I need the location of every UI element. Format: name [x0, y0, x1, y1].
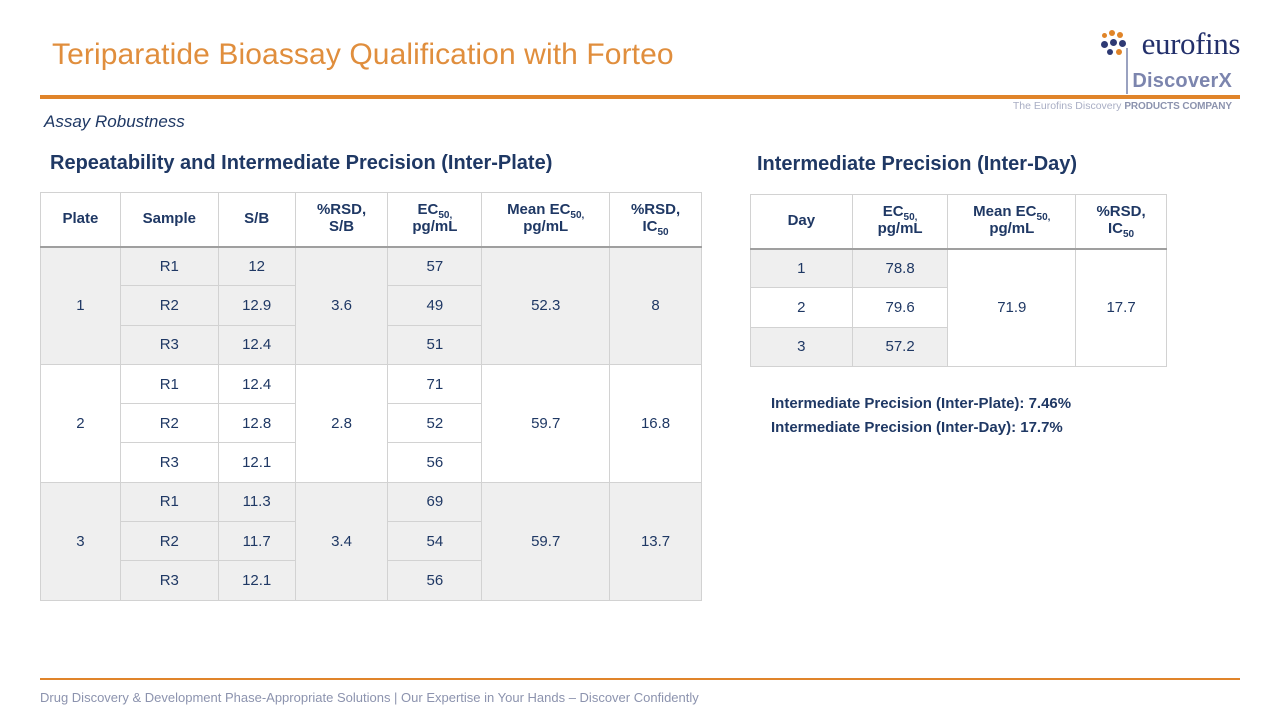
footer-divider: [40, 678, 1240, 680]
eurofins-dots-icon: [1101, 30, 1135, 58]
cell-rsd-sb: 3.4: [295, 482, 388, 600]
cell-ec50: 56: [388, 561, 482, 600]
cell-plate: 3: [41, 482, 121, 600]
cell-mean-ec50: 52.3: [482, 247, 610, 365]
cell-sb: 11.7: [218, 522, 295, 561]
cell-ec50: 78.8: [852, 249, 948, 288]
plate-table-heading: Repeatability and Intermediate Precision…: [50, 152, 552, 175]
cell-ec50: 52: [388, 404, 482, 443]
cell-ec50: 56: [388, 443, 482, 482]
col-header-plate: Plate: [41, 193, 121, 247]
col-header-day: Day: [751, 195, 853, 249]
summary-line-inter-plate: Intermediate Precision (Inter-Plate): 7.…: [771, 392, 1071, 416]
table-row: 178.871.917.7: [751, 249, 1167, 288]
table-row: 3R111.33.46959.713.7: [41, 482, 702, 521]
cell-ec50: 57: [388, 247, 482, 286]
cell-sb: 12.4: [218, 325, 295, 364]
cell-sb: 11.3: [218, 482, 295, 521]
cell-mean-ec50: 59.7: [482, 364, 610, 482]
summary-line-inter-day: Intermediate Precision (Inter-Day): 17.7…: [771, 416, 1071, 440]
cell-ec50: 69: [388, 482, 482, 521]
table-row: 2R112.42.87159.716.8: [41, 364, 702, 403]
cell-ec50: 79.6: [852, 288, 948, 327]
cell-sample: R3: [120, 325, 218, 364]
cell-plate: 1: [41, 247, 121, 365]
logo-divider: [1126, 48, 1128, 94]
cell-sb: 12.4: [218, 364, 295, 403]
col-header-rsd-ic50: %RSD,IC50: [1076, 195, 1167, 249]
tagline-light: The Eurofins Discovery: [1013, 100, 1124, 112]
header-divider: [40, 95, 1240, 99]
col-header-ec50: EC50,pg/mL: [388, 193, 482, 247]
footer-text: Drug Discovery & Development Phase-Appro…: [40, 690, 699, 705]
logo-tagline: The Eurofins Discovery PRODUCTS COMPANY: [1013, 100, 1232, 112]
col-header-ec50: EC50,pg/mL: [852, 195, 948, 249]
cell-day: 3: [751, 327, 853, 366]
tagline-bold: PRODUCTS COMPANY: [1124, 101, 1232, 112]
eurofins-logo: eurofins DiscoverX The Eurofins Discover…: [980, 22, 1240, 94]
slide-root: Teriparatide Bioassay Qualification with…: [0, 0, 1280, 720]
col-header-sb: S/B: [218, 193, 295, 247]
cell-ec50: 51: [388, 325, 482, 364]
cell-sample: R2: [120, 286, 218, 325]
cell-sample: R3: [120, 561, 218, 600]
page-title: Teriparatide Bioassay Qualification with…: [52, 38, 674, 72]
cell-sample: R3: [120, 443, 218, 482]
cell-rsd-ic50: 13.7: [610, 482, 702, 600]
cell-rsd-sb: 2.8: [295, 364, 388, 482]
cell-sb: 12.8: [218, 404, 295, 443]
cell-sample: R2: [120, 404, 218, 443]
cell-sample: R1: [120, 247, 218, 286]
eurofins-wordmark: eurofins: [1142, 28, 1240, 60]
cell-ec50: 49: [388, 286, 482, 325]
cell-rsd-ic50: 8: [610, 247, 702, 365]
col-header-mean-ec50: Mean EC50,pg/mL: [948, 195, 1076, 249]
precision-summary: Intermediate Precision (Inter-Plate): 7.…: [771, 392, 1071, 439]
col-header-mean-ec50: Mean EC50,pg/mL: [482, 193, 610, 247]
repeatability-inter-plate-table: Plate Sample S/B %RSD,S/B EC50,pg/mL Mea…: [40, 192, 702, 601]
discoverx-wordmark: DiscoverX: [1132, 70, 1232, 93]
cell-mean-ec50: 59.7: [482, 482, 610, 600]
cell-sb: 12: [218, 247, 295, 286]
table-header-row: Day EC50,pg/mL Mean EC50,pg/mL %RSD,IC50: [751, 195, 1167, 249]
cell-sb: 12.1: [218, 443, 295, 482]
cell-day: 1: [751, 249, 853, 288]
cell-sample: R2: [120, 522, 218, 561]
cell-ec50: 71: [388, 364, 482, 403]
section-subtitle: Assay Robustness: [44, 112, 185, 132]
col-header-rsd-sb: %RSD,S/B: [295, 193, 388, 247]
cell-rsd-sb: 3.6: [295, 247, 388, 365]
col-header-sample: Sample: [120, 193, 218, 247]
cell-ec50: 54: [388, 522, 482, 561]
cell-rsd-ic50: 17.7: [1076, 249, 1167, 367]
cell-mean-ec50: 71.9: [948, 249, 1076, 367]
day-table-heading: Intermediate Precision (Inter-Day): [757, 153, 1077, 176]
cell-rsd-ic50: 16.8: [610, 364, 702, 482]
cell-sb: 12.9: [218, 286, 295, 325]
cell-day: 2: [751, 288, 853, 327]
col-header-rsd-ic50: %RSD,IC50: [610, 193, 702, 247]
inter-day-precision-table: Day EC50,pg/mL Mean EC50,pg/mL %RSD,IC50…: [750, 194, 1167, 367]
cell-sb: 12.1: [218, 561, 295, 600]
cell-sample: R1: [120, 482, 218, 521]
cell-plate: 2: [41, 364, 121, 482]
table-row: 1R1123.65752.38: [41, 247, 702, 286]
table-header-row: Plate Sample S/B %RSD,S/B EC50,pg/mL Mea…: [41, 193, 702, 247]
cell-ec50: 57.2: [852, 327, 948, 366]
cell-sample: R1: [120, 364, 218, 403]
